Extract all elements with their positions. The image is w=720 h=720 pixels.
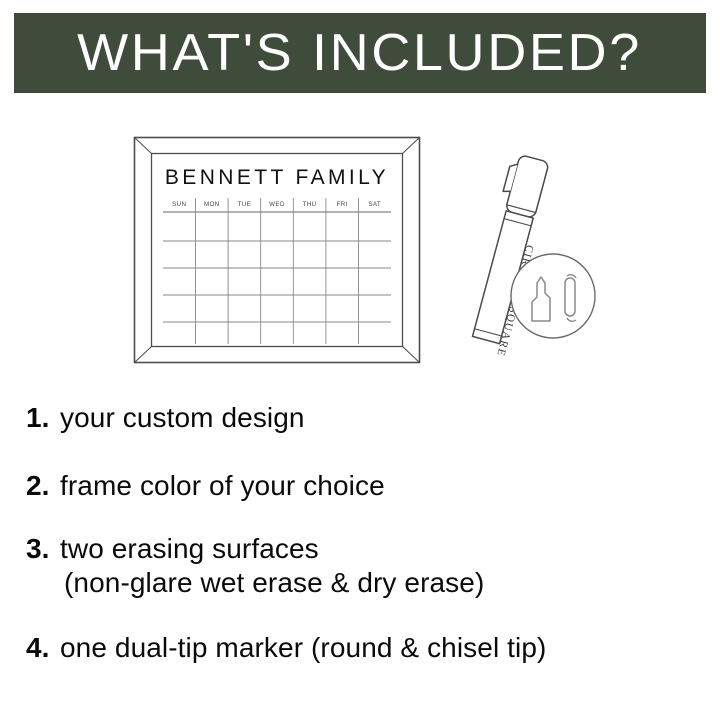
- page-title: WHAT'S INCLUDED?: [78, 27, 643, 79]
- list-item-number: 4.: [26, 631, 60, 665]
- illustration-area: BENNETT FAMILY SUNMONTUEWEDTHUFRISAT: [0, 100, 720, 375]
- list-item-text: frame color of your choice: [60, 469, 385, 503]
- list-item-text: two erasing surfaces: [60, 533, 319, 564]
- list-item-number: 3.: [26, 532, 60, 566]
- calendar-day-header: FRI: [337, 201, 348, 208]
- list-item-text: one dual-tip marker (round & chisel tip): [60, 631, 546, 665]
- list-item: 2. frame color of your choice: [0, 469, 385, 503]
- list-item-subtext: (non-glare wet erase & dry erase): [64, 566, 484, 600]
- whiteboard-svg: BENNETT FAMILY SUNMONTUEWEDTHUFRISAT: [133, 136, 421, 364]
- list-item-text-block: two erasing surfaces (non-glare wet eras…: [60, 532, 484, 600]
- list-item-number: 2.: [26, 469, 60, 503]
- calendar-day-header: SAT: [368, 201, 381, 208]
- header-banner: WHAT'S INCLUDED?: [14, 13, 706, 93]
- marker-cap: [505, 155, 549, 219]
- calendar-day-header: WED: [269, 201, 285, 208]
- whiteboard-calendar-illustration: BENNETT FAMILY SUNMONTUEWEDTHUFRISAT: [133, 136, 421, 369]
- list-item: 3. two erasing surfaces (non-glare wet e…: [0, 532, 484, 600]
- calendar-day-header: TUE: [238, 201, 252, 208]
- list-item-text: your custom design: [60, 401, 305, 435]
- list-item: 4. one dual-tip marker (round & chisel t…: [0, 631, 546, 665]
- calendar-day-header: SUN: [172, 201, 186, 208]
- calendar-day-header: THU: [303, 201, 317, 208]
- marker-svg: CIRCLE & SQUARE: [466, 150, 601, 365]
- marker-illustration: CIRCLE & SQUARE: [466, 150, 601, 370]
- marker-tip-detail-circle: [511, 254, 595, 338]
- list-item-number: 1.: [26, 401, 60, 435]
- list-item: 1. your custom design: [0, 401, 305, 435]
- detail-circle-outline: [511, 254, 595, 338]
- calendar-day-header: MON: [204, 201, 220, 208]
- board-title: BENNETT FAMILY: [165, 166, 389, 189]
